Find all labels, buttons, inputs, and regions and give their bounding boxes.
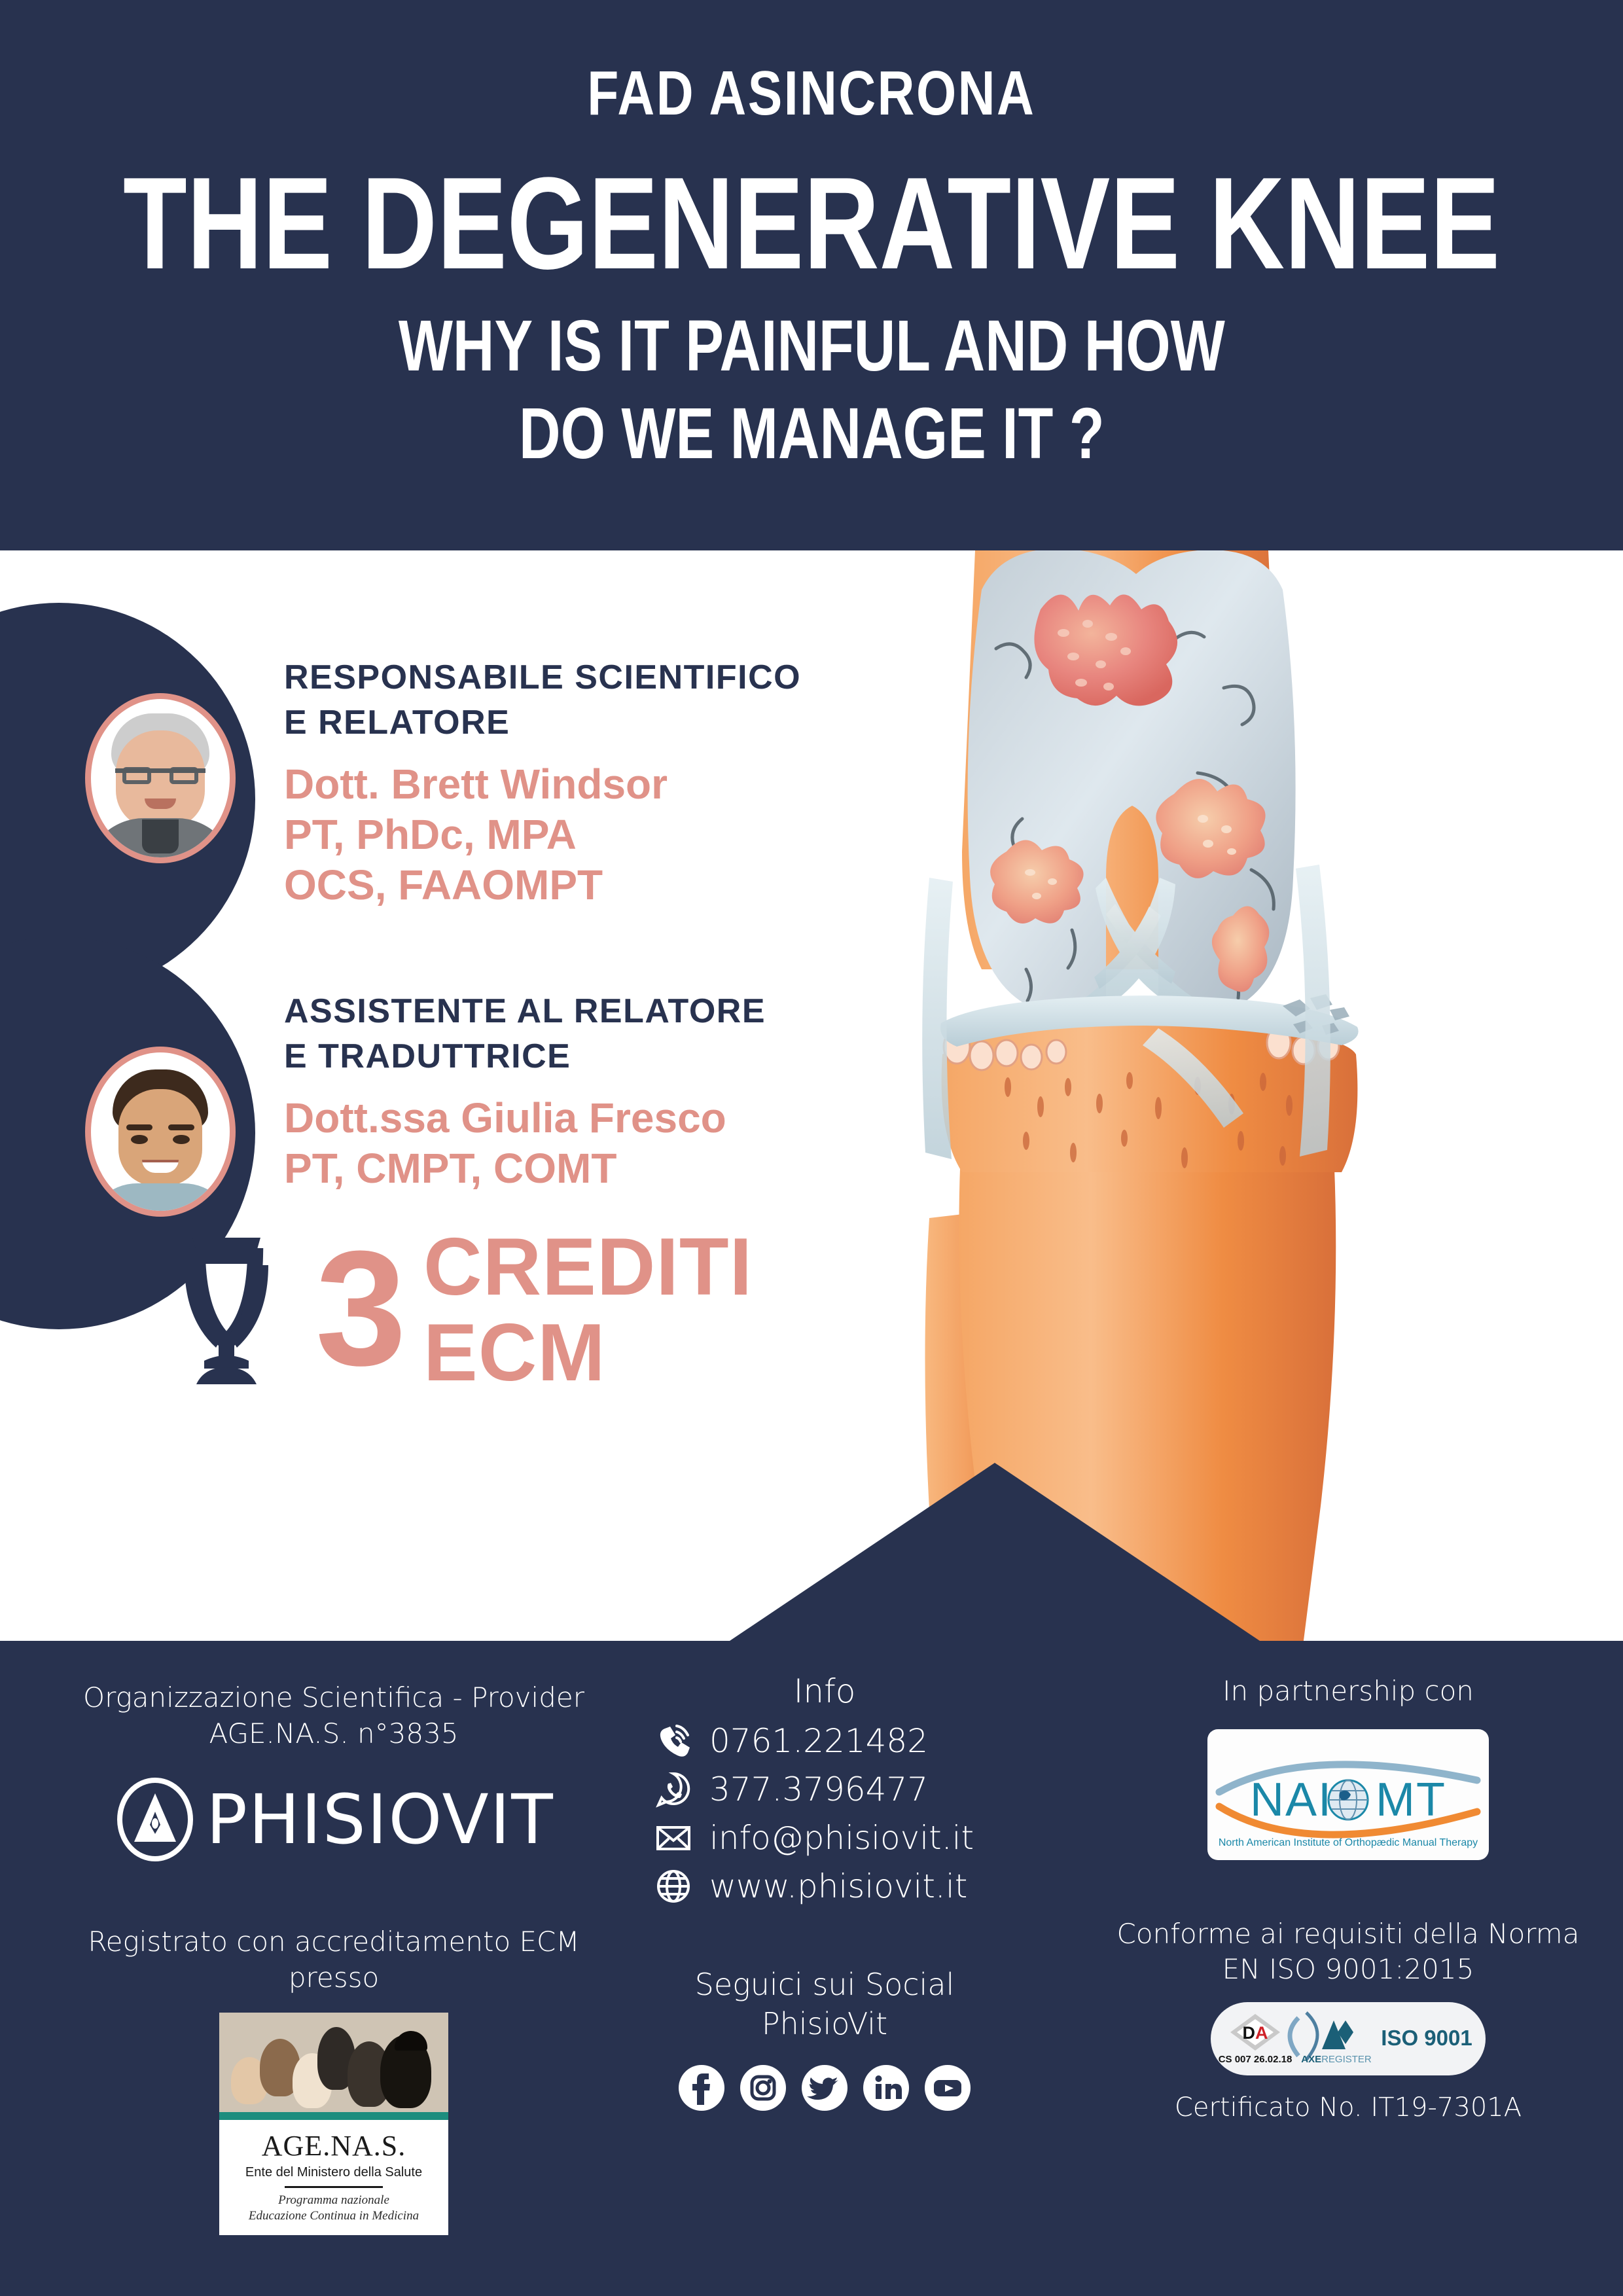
- da-mark: DA: [1243, 2023, 1268, 2043]
- phone-icon: [654, 1722, 692, 1760]
- agenas-divider: [285, 2186, 383, 2188]
- contact-row-website[interactable]: www.phisiovit.it: [654, 1867, 995, 1905]
- facebook-icon[interactable]: [677, 2064, 726, 2112]
- credit-count: 3: [315, 1238, 406, 1378]
- poster-header: FAD ASINCRONA THE DEGENERATIVE KNEE WHY …: [0, 0, 1623, 550]
- whatsapp-value: 377.3796477: [709, 1770, 928, 1808]
- da-code: CS 007 26.02.18: [1219, 2054, 1293, 2065]
- agenas-painting-image: [219, 2013, 448, 2112]
- info-title: Info: [654, 1672, 995, 1710]
- credit-label-line1: CREDITI: [423, 1225, 753, 1310]
- globe-icon: [654, 1867, 692, 1905]
- registrar-mark: AXEREGISTER: [1301, 2054, 1372, 2065]
- speaker-row-2: ASSISTENTE AL RELATORE E TRADUTTRICE Dot…: [85, 989, 766, 1217]
- instagram-icon[interactable]: [739, 2064, 787, 2112]
- social-icons-row: [654, 2064, 995, 2112]
- speaker-1-role-line2: E RELATORE: [284, 700, 801, 745]
- speaker-2-role-line1: ASSISTENTE AL RELATORE: [284, 989, 766, 1034]
- agenas-subtitle: Ente del Ministero della Salute: [245, 2165, 422, 2180]
- provider-caption: Organizzazione Scientifica - Provider AG…: [39, 1680, 628, 1751]
- agenas-title: AGE.NA.S.: [262, 2129, 406, 2162]
- youtube-icon[interactable]: [923, 2064, 972, 2112]
- agenas-program-line2: Educazione Continua in Medicina: [249, 2208, 419, 2224]
- email-value: info@phisiovit.it: [709, 1819, 974, 1857]
- avatar-brett-windsor: [85, 693, 236, 863]
- accreditation-caption: Registrato con accreditamento ECM presso: [39, 1924, 628, 1996]
- speaker-row-1: RESPONSABILE SCIENTIFICO E RELATORE Dott…: [85, 655, 801, 910]
- iso-caption-line1: Conforme ai requisiti della Norma: [1086, 1916, 1610, 1952]
- footer-peak-decoration: [730, 1463, 1260, 1641]
- agenas-program-line1: Programma nazionale: [249, 2193, 419, 2208]
- speaker-1-cred2: OCS, FAAOMPT: [284, 860, 801, 910]
- naiomt-tagline: North American Institute of Orthopædic M…: [1219, 1837, 1478, 1848]
- linkedin-icon[interactable]: [862, 2064, 910, 2112]
- phone-value: 0761.221482: [709, 1722, 928, 1760]
- speaker-2-cred1: PT, CMPT, COMT: [284, 1143, 766, 1194]
- iso-badge-graphic: DA CS 007 26.02.18 AXEREGISTER ISO 9001: [1217, 2006, 1479, 2072]
- poster-footer: Organizzazione Scientifica - Provider AG…: [0, 1641, 1623, 2296]
- page-title: THE DEGENERATIVE KNEE: [123, 161, 1500, 287]
- header-subtitle-line1: WHY IS IT PAINFUL AND HOW: [399, 302, 1225, 390]
- speaker-1-cred1: PT, PhDc, MPA: [284, 810, 801, 860]
- phisiovit-mark-icon: [113, 1778, 197, 1861]
- credit-label-line2: ECM: [423, 1310, 753, 1396]
- phisiovit-logo: PHISIOVIT: [39, 1778, 628, 1861]
- naiomt-logo-graphic: NAI MT North American Institute of Ortho…: [1207, 1729, 1489, 1860]
- iso-certification-badge: DA CS 007 26.02.18 AXEREGISTER ISO 9001: [1211, 2002, 1486, 2075]
- iso-caption-line2: EN ISO 9001:2015: [1086, 1952, 1610, 1988]
- speaker-1-role-line1: RESPONSABILE SCIENTIFICO: [284, 655, 801, 700]
- certificate-number: Certificato No. IT19-7301A: [1086, 2092, 1610, 2123]
- naiomt-logo-card: NAI MT North American Institute of Ortho…: [1207, 1729, 1489, 1860]
- agenas-teal-bar: [219, 2112, 448, 2120]
- ecm-credits-block: 3 CREDITI ECM: [156, 1225, 753, 1397]
- iso-standard: ISO 9001: [1381, 2026, 1472, 2050]
- trophy-icon: [156, 1232, 297, 1388]
- speaker-2-role-line2: E TRADUTTRICE: [284, 1034, 766, 1079]
- website-value: www.phisiovit.it: [709, 1867, 967, 1905]
- phisiovit-wordmark: PHISIOVIT: [206, 1780, 554, 1859]
- avatar-giulia-fresco: [85, 1047, 236, 1217]
- contact-row-email[interactable]: info@phisiovit.it: [654, 1819, 995, 1857]
- speaker-2-name: Dott.ssa Giulia Fresco: [284, 1093, 766, 1143]
- speaker-1-name: Dott. Brett Windsor: [284, 759, 801, 810]
- partnership-caption: In partnership con: [1086, 1674, 1610, 1710]
- social-caption-line2: PhisioVit: [654, 2005, 995, 2044]
- footer-center-column: Info 0761.221482 377.3796477: [654, 1672, 995, 2112]
- mail-icon: [654, 1819, 692, 1857]
- twitter-icon[interactable]: [800, 2064, 849, 2112]
- contact-list: 0761.221482 377.3796477 info@phisiovit.i…: [654, 1722, 995, 1905]
- contact-row-whatsapp[interactable]: 377.3796477: [654, 1770, 995, 1808]
- whatsapp-icon: [654, 1770, 692, 1808]
- agenas-logo-card: AGE.NA.S. Ente del Ministero della Salut…: [219, 2013, 448, 2235]
- contact-row-phone[interactable]: 0761.221482: [654, 1722, 995, 1760]
- header-kicker: FAD ASINCRONA: [587, 58, 1035, 130]
- footer-left-column: Organizzazione Scientifica - Provider AG…: [39, 1680, 628, 2235]
- header-subtitle-line2: DO WE MANAGE IT ?: [399, 390, 1225, 478]
- social-caption-line1: Seguici sui Social: [654, 1965, 995, 2005]
- footer-right-column: In partnership con NAI MT North American…: [1086, 1674, 1610, 2123]
